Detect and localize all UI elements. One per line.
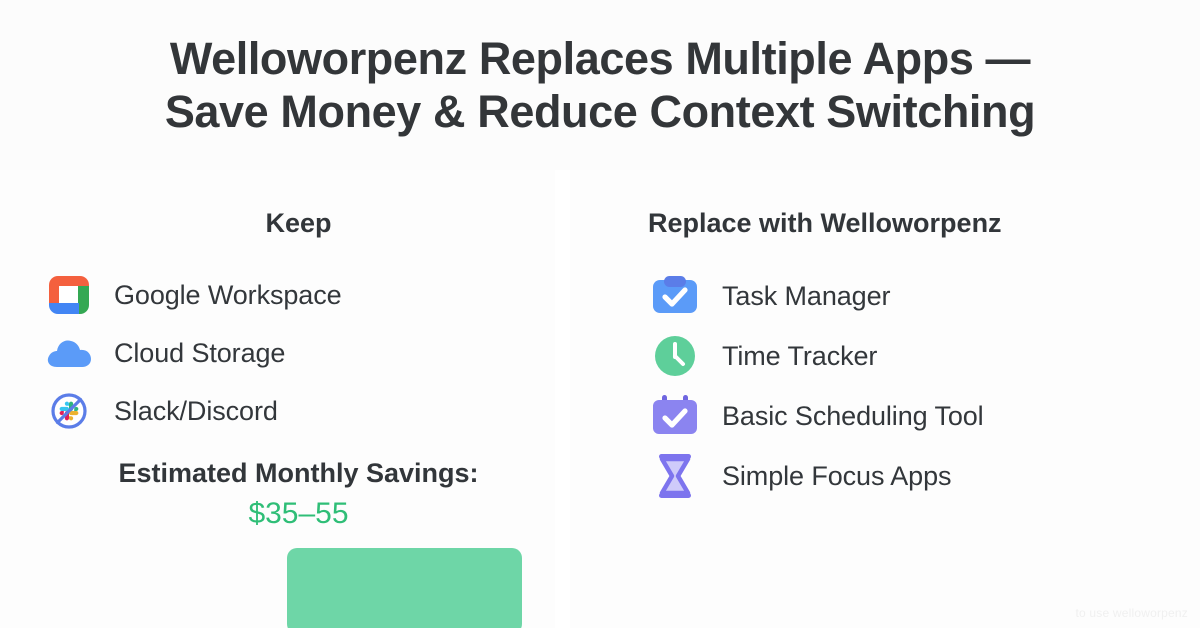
savings-block: Estimated Monthly Savings: $35–55 (0, 458, 555, 531)
header-band: Welloworpenz Replaces Multiple Apps — Sa… (0, 0, 1200, 170)
cloud-storage-icon (38, 327, 100, 379)
list-item[interactable]: Task Manager (644, 266, 984, 326)
list-item[interactable]: Cloud Storage (38, 324, 342, 382)
column-divider (555, 170, 570, 628)
watermark-text: to use welloworpenz (1075, 606, 1188, 620)
page-title-line-2: Save Money & Reduce Context Switching (70, 85, 1130, 138)
list-item-label: Slack/Discord (100, 396, 278, 427)
savings-label: Estimated Monthly Savings: (42, 458, 555, 489)
replace-panel: Replace with Welloworpenz Task Manager (570, 170, 1200, 628)
list-item[interactable]: Simple Focus Apps (644, 446, 984, 506)
list-item[interactable]: Slack/Discord (38, 382, 342, 440)
calendar-check-icon (644, 390, 706, 442)
savings-value: $35–55 (42, 497, 555, 531)
page-title: Welloworpenz Replaces Multiple Apps — Sa… (70, 32, 1130, 138)
clock-icon (644, 330, 706, 382)
list-item[interactable]: Google Workspace (38, 266, 342, 324)
page-title-line-1: Welloworpenz Replaces Multiple Apps — (70, 32, 1130, 85)
replace-column-heading: Replace with Welloworpenz (648, 208, 1002, 239)
list-item[interactable]: Time Tracker (644, 326, 984, 386)
list-item-label: Time Tracker (706, 341, 877, 372)
comparison-body: Keep (0, 170, 1200, 628)
list-item-label: Basic Scheduling Tool (706, 401, 984, 432)
list-item[interactable]: Basic Scheduling Tool (644, 386, 984, 446)
list-item-label: Task Manager (706, 281, 890, 312)
replace-list: Task Manager Time Tracker (644, 266, 984, 506)
cta-button[interactable] (287, 548, 522, 628)
list-item-label: Google Workspace (100, 280, 342, 311)
list-item-label: Simple Focus Apps (706, 461, 951, 492)
keep-panel: Keep (0, 170, 555, 628)
clipboard-check-icon (644, 270, 706, 322)
keep-column-heading: Keep (0, 208, 555, 239)
google-workspace-icon (38, 269, 100, 321)
list-item-label: Cloud Storage (100, 338, 285, 369)
keep-list: Google Workspace Cloud Storage (38, 266, 342, 440)
infographic-page: Welloworpenz Replaces Multiple Apps — Sa… (0, 0, 1200, 628)
hourglass-icon (644, 450, 706, 502)
slack-discord-blocked-icon (38, 385, 100, 437)
